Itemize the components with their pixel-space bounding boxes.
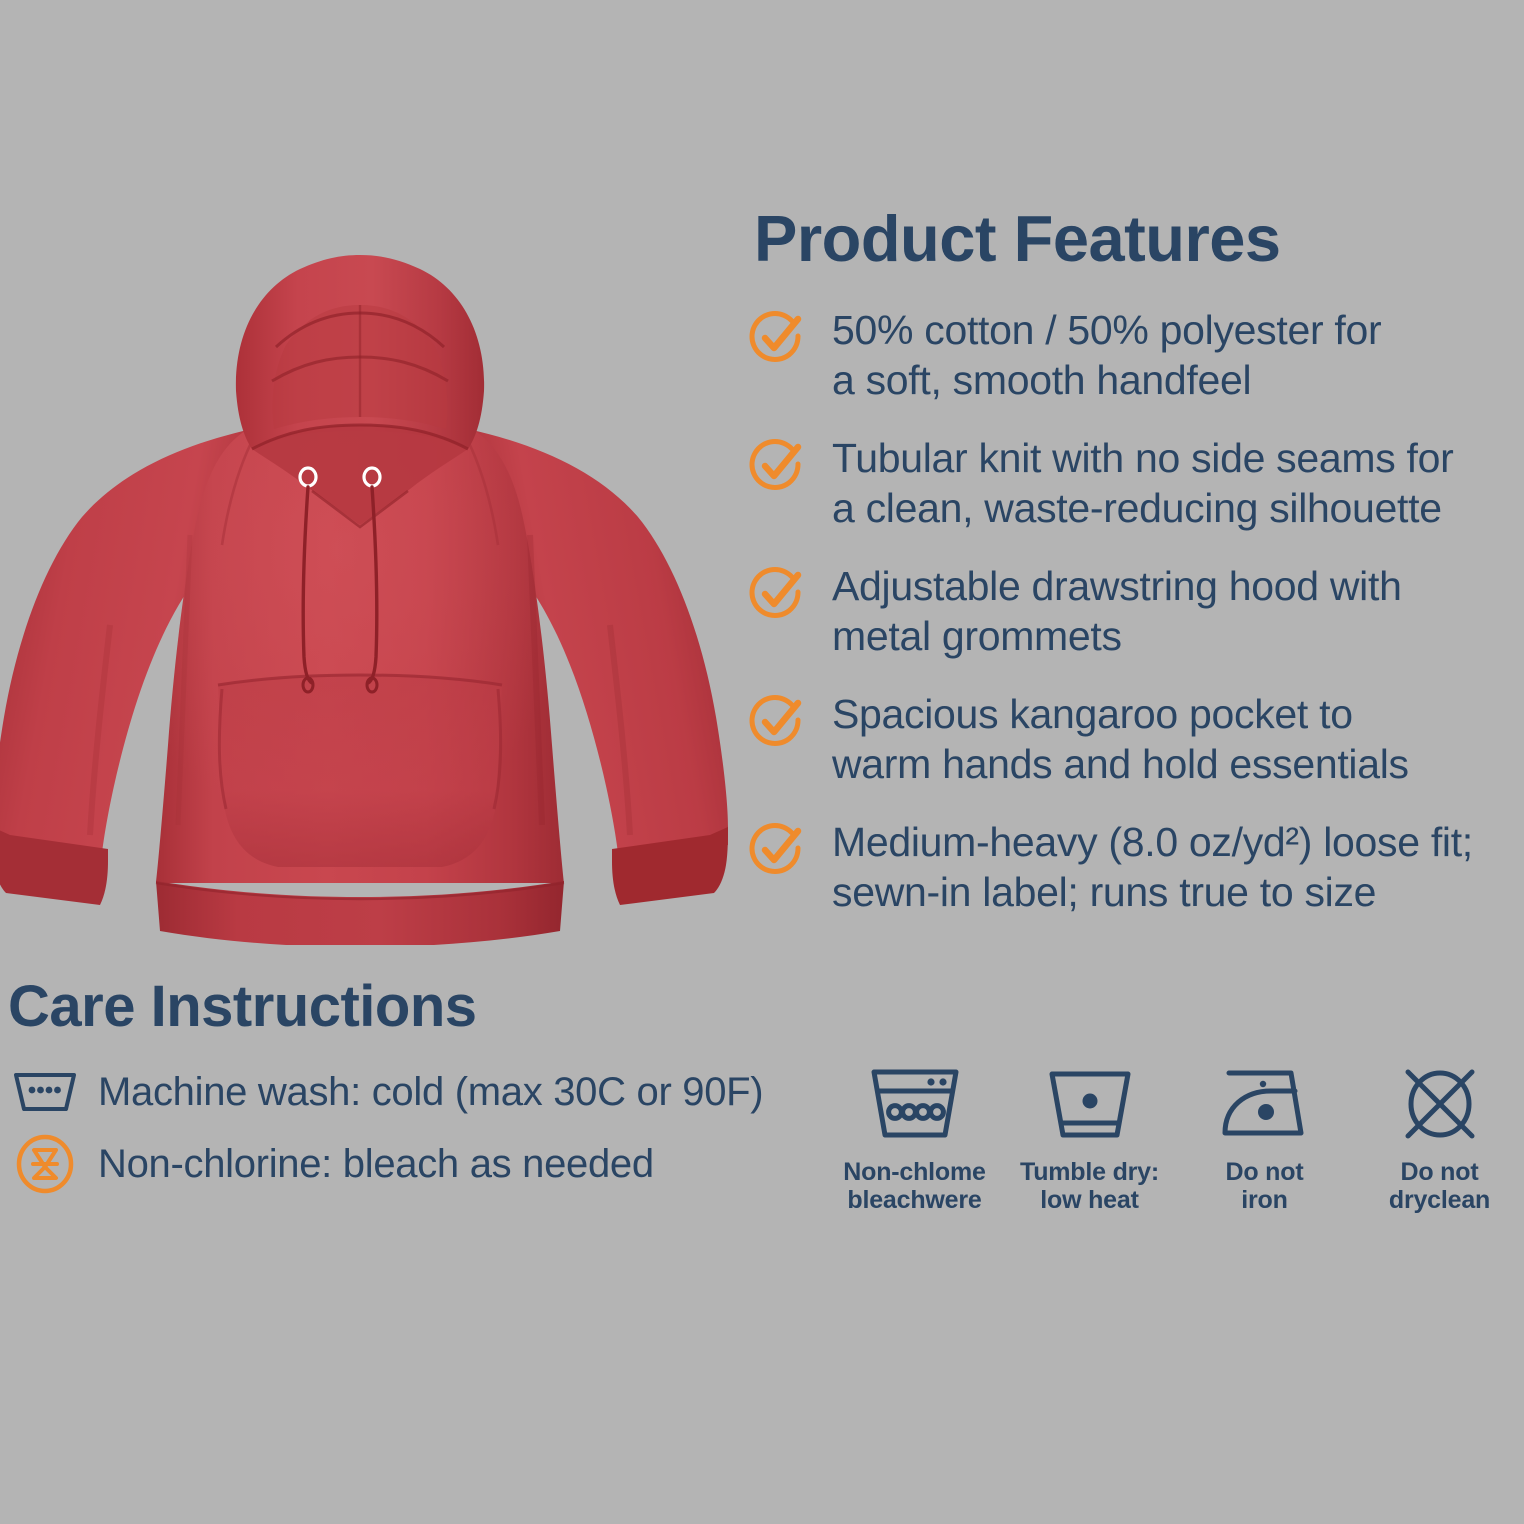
tumble-dry-low-heat-icon (1044, 1058, 1136, 1150)
check-circle-icon (748, 821, 806, 879)
care-symbol: Tumble dry: low heat (1007, 1058, 1172, 1214)
non-chlorine-bleach-icon (8, 1134, 82, 1194)
check-circle-icon (748, 565, 806, 623)
feature-text: Medium-heavy (8.0 oz/yd²) loose fit; sew… (832, 817, 1473, 917)
check-circle-icon (748, 693, 806, 751)
care-symbol-label: Do not dryclean (1389, 1158, 1490, 1214)
care-symbol-label: Do not iron (1226, 1158, 1304, 1214)
do-not-dryclean-icon (1394, 1058, 1486, 1150)
care-symbol-label: Non-chlome bleachwere (843, 1158, 985, 1214)
product-features-section: Product Features 50% cotton / 50% polyes… (748, 206, 1524, 945)
product-hoodie-image (0, 205, 730, 945)
care-instructions-section: Care Instructions Machine wash: cold (ma… (8, 978, 838, 1206)
feature-text: Spacious kangaroo pocket to warm hands a… (832, 689, 1409, 789)
care-symbol-label: Tumble dry: low heat (1020, 1158, 1159, 1214)
care-instructions-title: Care Instructions (8, 978, 838, 1036)
feature-item: 50% cotton / 50% polyester for a soft, s… (748, 305, 1524, 405)
check-circle-icon (748, 309, 806, 367)
care-symbol: Do not iron (1182, 1058, 1347, 1214)
machine-wash-tub-icon (8, 1062, 82, 1122)
feature-text: Tubular knit with no side seams for a cl… (832, 433, 1453, 533)
feature-item: Spacious kangaroo pocket to warm hands a… (748, 689, 1524, 789)
care-instruction-text: Machine wash: cold (max 30C or 90F) (98, 1070, 763, 1114)
care-symbols-strip: Non-chlome bleachwere Tumble dry: low he… (832, 1058, 1522, 1214)
non-chlorine-bleach-basin-icon (869, 1058, 961, 1150)
feature-item: Tubular knit with no side seams for a cl… (748, 433, 1524, 533)
feature-text: 50% cotton / 50% polyester for a soft, s… (832, 305, 1381, 405)
care-symbol: Do not dryclean (1357, 1058, 1522, 1214)
do-not-iron-icon (1219, 1058, 1311, 1150)
feature-item: Adjustable drawstring hood with metal gr… (748, 561, 1524, 661)
care-instruction-item: Non-chlorine: bleach as needed (8, 1134, 838, 1194)
feature-text: Adjustable drawstring hood with metal gr… (832, 561, 1402, 661)
infographic-canvas: Product Features 50% cotton / 50% polyes… (0, 0, 1524, 1524)
feature-item: Medium-heavy (8.0 oz/yd²) loose fit; sew… (748, 817, 1524, 917)
care-instruction-item: Machine wash: cold (max 30C or 90F) (8, 1062, 838, 1122)
check-circle-icon (748, 437, 806, 495)
care-instruction-text: Non-chlorine: bleach as needed (98, 1142, 654, 1186)
page-title: Product Features (754, 206, 1524, 271)
care-symbol: Non-chlome bleachwere (832, 1058, 997, 1214)
